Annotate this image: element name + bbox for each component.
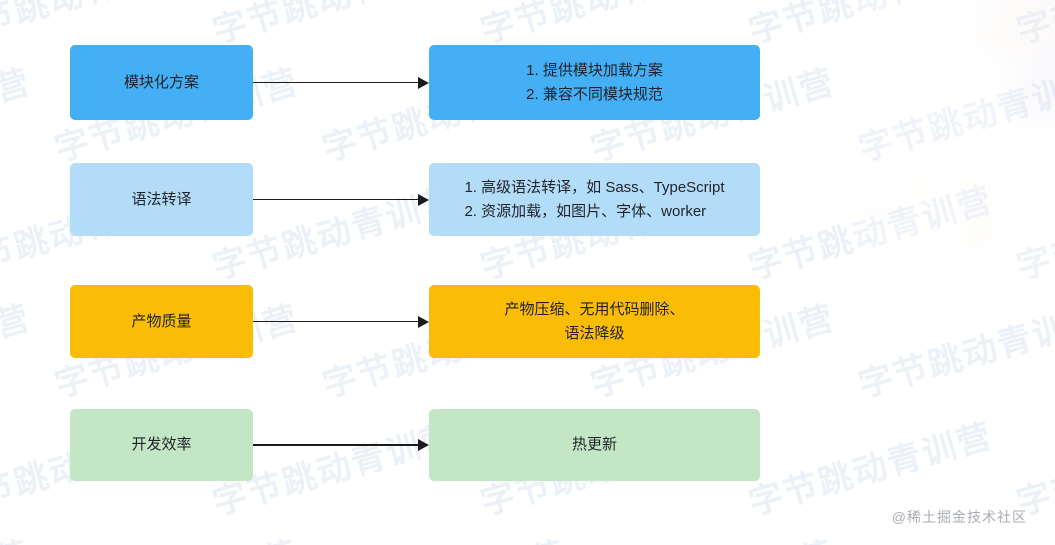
arrow-right-icon bbox=[253, 439, 429, 451]
arrow-shaft bbox=[253, 321, 419, 323]
flow-target-label: 1. 提供模块加载方案 2. 兼容不同模块规范 bbox=[526, 59, 663, 106]
arrow-right-icon bbox=[253, 77, 429, 89]
arrow-shaft bbox=[253, 199, 419, 201]
flow-target-node[interactable]: 热更新 bbox=[429, 409, 760, 481]
flow-source-node[interactable]: 模块化方案 bbox=[70, 45, 253, 120]
flow-diagram: 模块化方案1. 提供模块加载方案 2. 兼容不同模块规范语法转译1. 高级语法转… bbox=[0, 0, 1055, 545]
flow-source-label: 模块化方案 bbox=[124, 71, 199, 94]
arrow-head bbox=[418, 439, 429, 451]
flow-target-label: 1. 高级语法转译，如 Sass、TypeScript 2. 资源加载，如图片、… bbox=[464, 176, 724, 223]
arrow-shaft bbox=[253, 444, 419, 446]
flow-target-label: 热更新 bbox=[572, 433, 617, 456]
flow-target-node[interactable]: 1. 提供模块加载方案 2. 兼容不同模块规范 bbox=[429, 45, 760, 120]
flow-source-node[interactable]: 产物质量 bbox=[70, 285, 253, 358]
flow-source-node[interactable]: 语法转译 bbox=[70, 163, 253, 236]
arrow-head bbox=[418, 316, 429, 328]
flow-target-node[interactable]: 产物压缩、无用代码删除、 语法降级 bbox=[429, 285, 760, 358]
arrow-right-icon bbox=[253, 316, 429, 328]
flow-target-node[interactable]: 1. 高级语法转译，如 Sass、TypeScript 2. 资源加载，如图片、… bbox=[429, 163, 760, 236]
arrow-head bbox=[418, 77, 429, 89]
arrow-head bbox=[418, 194, 429, 206]
flow-target-label: 产物压缩、无用代码删除、 语法降级 bbox=[504, 298, 684, 345]
flow-source-node[interactable]: 开发效率 bbox=[70, 409, 253, 481]
credit-watermark: @稀土掘金技术社区 bbox=[892, 507, 1027, 527]
flow-source-label: 开发效率 bbox=[131, 433, 191, 456]
arrow-right-icon bbox=[253, 194, 429, 206]
flow-source-label: 产物质量 bbox=[131, 310, 191, 333]
flow-source-label: 语法转译 bbox=[131, 188, 191, 211]
slide-canvas: 字节跳动青训营字节跳动青训营字节跳动青训营字节跳动青训营字节跳动青训营字节跳动青… bbox=[0, 0, 1055, 545]
arrow-shaft bbox=[253, 82, 419, 84]
